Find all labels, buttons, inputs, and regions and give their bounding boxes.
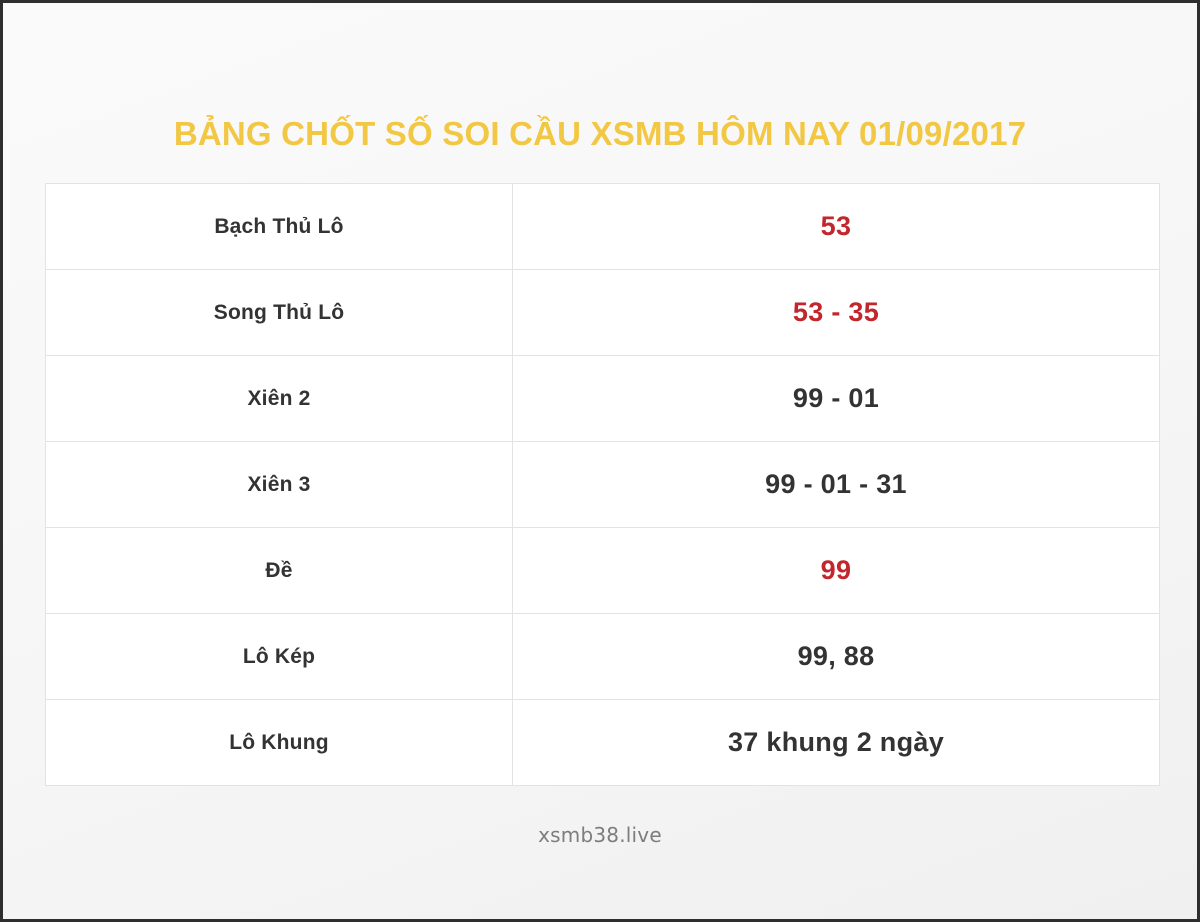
row-value: 53 — [513, 184, 1160, 270]
row-label: Đề — [46, 528, 513, 614]
prediction-table: Bạch Thủ Lô53Song Thủ Lô53 - 35Xiên 299 … — [45, 183, 1160, 786]
site-watermark: xsmb38.live — [538, 823, 662, 847]
row-value: 99 - 01 - 31 — [513, 442, 1160, 528]
page-frame: BẢNG CHỐT SỐ SOI CẦU XSMB HÔM NAY 01/09/… — [0, 0, 1200, 922]
row-value: 99 — [513, 528, 1160, 614]
footer: xsmb38.live — [3, 823, 1197, 847]
table-row: Lô Kép99, 88 — [46, 614, 1160, 700]
table-row: Đề99 — [46, 528, 1160, 614]
table-row: Lô Khung37 khung 2 ngày — [46, 700, 1160, 786]
row-value: 99, 88 — [513, 614, 1160, 700]
table-row: Xiên 399 - 01 - 31 — [46, 442, 1160, 528]
row-value: 99 - 01 — [513, 356, 1160, 442]
page-content: BẢNG CHỐT SỐ SOI CẦU XSMB HÔM NAY 01/09/… — [3, 3, 1197, 919]
table-row: Bạch Thủ Lô53 — [46, 184, 1160, 270]
row-value: 53 - 35 — [513, 270, 1160, 356]
row-value: 37 khung 2 ngày — [513, 700, 1160, 786]
table-row: Song Thủ Lô53 - 35 — [46, 270, 1160, 356]
page-title: BẢNG CHỐT SỐ SOI CẦU XSMB HÔM NAY 01/09/… — [174, 117, 1026, 150]
row-label: Bạch Thủ Lô — [46, 184, 513, 270]
row-label: Song Thủ Lô — [46, 270, 513, 356]
prediction-table-body: Bạch Thủ Lô53Song Thủ Lô53 - 35Xiên 299 … — [46, 184, 1160, 786]
row-label: Lô Khung — [46, 700, 513, 786]
row-label: Xiên 3 — [46, 442, 513, 528]
row-label: Lô Kép — [46, 614, 513, 700]
prediction-table-container: Bạch Thủ Lô53Song Thủ Lô53 - 35Xiên 299 … — [45, 183, 1160, 786]
table-row: Xiên 299 - 01 — [46, 356, 1160, 442]
title-bar: BẢNG CHỐT SỐ SOI CẦU XSMB HÔM NAY 01/09/… — [3, 95, 1197, 172]
row-label: Xiên 2 — [46, 356, 513, 442]
